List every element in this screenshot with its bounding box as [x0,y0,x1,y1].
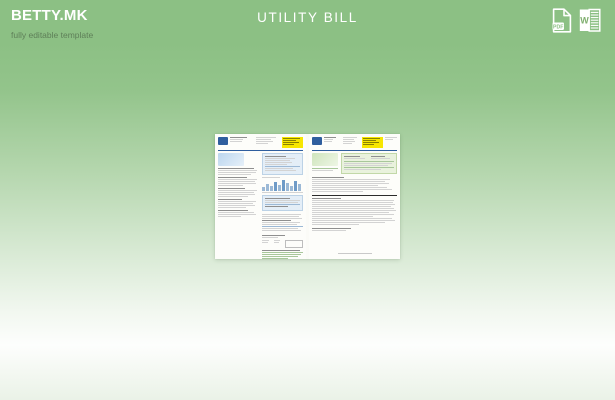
page1-detail-lines [262,214,303,231]
amount-due-highlight [362,137,383,148]
page2-page-number [385,137,397,141]
format-icon-group: PDF W [552,8,601,38]
important-notice-panel [341,153,397,174]
pdf-file-icon[interactable]: PDF [552,8,572,38]
utility-bill-document-preview[interactable] [215,134,400,259]
company-logo-mark [312,137,322,145]
page2-notice-row [309,153,400,174]
page2-footer [309,253,400,254]
page2-header-row [309,134,400,148]
page2-terms-text [309,198,400,231]
page2-brand-badge [312,153,338,174]
page2-section-rule [312,195,397,196]
page1-header-row [215,134,306,148]
page1-brand-badge [218,153,244,166]
page1-account-block [256,137,280,145]
amount-due-highlight [282,137,303,148]
account-summary-panel [262,153,303,175]
page1-company-block [230,137,254,143]
word-file-icon[interactable]: W [579,8,601,38]
svg-text:PDF: PDF [553,24,563,30]
page-title: UTILITY BILL [0,10,615,25]
page2-header-rule [312,150,397,151]
svg-text:W: W [580,15,589,25]
usage-chart-block [262,177,303,193]
page-root: BETTY.MK fully editable template UTILITY… [0,0,615,400]
page1-body-columns [215,153,306,259]
page1-header-rule [218,150,303,151]
charges-table [262,195,303,211]
brand-tagline: fully editable template [11,28,93,42]
page2-account-block [343,137,360,145]
page2-company-block [324,137,341,143]
preview-page-1[interactable] [215,134,306,259]
page-header: BETTY.MK fully editable template UTILITY… [0,0,615,50]
payment-stub-block [262,235,303,259]
preview-page-2[interactable] [309,134,400,259]
page2-body-text [309,174,400,192]
page1-right-column [262,153,303,259]
page1-left-column [218,153,259,259]
company-logo-mark [218,137,228,145]
